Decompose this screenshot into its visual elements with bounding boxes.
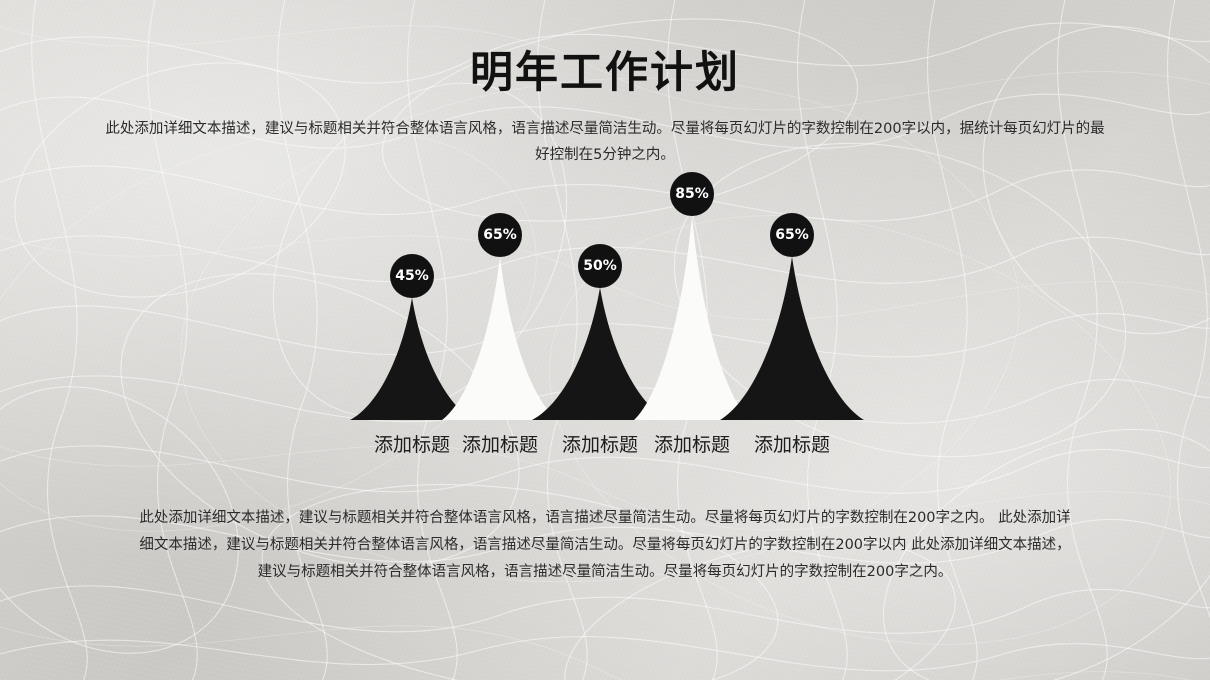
category-label: 添加标题 bbox=[754, 430, 830, 457]
page-title: 明年工作计划 bbox=[0, 50, 1210, 97]
spike-bar bbox=[532, 288, 668, 421]
body-text: 此处添加详细文本描述，建议与标题相关并符合整体语言风格，语言描述尽量简洁生动。尽… bbox=[135, 505, 1075, 586]
spike-bar bbox=[442, 257, 558, 420]
subtitle-text: 此处添加详细文本描述，建议与标题相关并符合整体语言风格，语言描述尽量简洁生动。尽… bbox=[105, 116, 1105, 168]
value-badge: 65% bbox=[478, 213, 522, 257]
value-badge: 45% bbox=[390, 254, 434, 298]
value-badge: 85% bbox=[670, 172, 714, 216]
category-label: 添加标题 bbox=[654, 430, 730, 457]
category-label: 添加标题 bbox=[374, 430, 450, 457]
value-badge: 65% bbox=[770, 213, 814, 257]
category-label: 添加标题 bbox=[462, 430, 538, 457]
spike-bar bbox=[634, 216, 750, 420]
spike-bar bbox=[350, 298, 474, 420]
value-badge: 50% bbox=[578, 244, 622, 288]
category-label: 添加标题 bbox=[562, 430, 638, 457]
spike-shapes bbox=[300, 170, 920, 470]
spike-bar-chart: 45%添加标题65%添加标题50%添加标题85%添加标题65%添加标题 bbox=[300, 170, 920, 470]
spike-bar bbox=[720, 257, 864, 420]
